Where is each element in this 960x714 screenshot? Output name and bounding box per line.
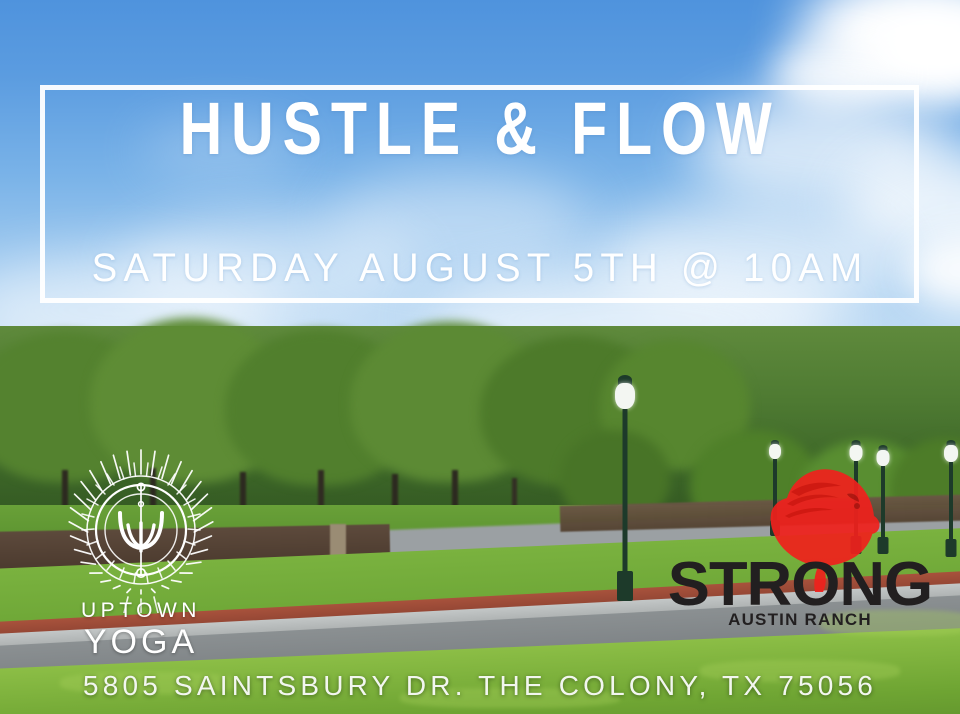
strong-wordmark: STRONG <box>637 554 960 616</box>
strong-austin-ranch-logo: STRONG AUSTIN RANCH <box>640 462 960 622</box>
uptown-yoga-logo: UPTOWN YOGA <box>36 447 246 652</box>
venue-address: 5805 SAINTSBURY DR. THE COLONY, TX 75056 <box>0 670 960 702</box>
event-headline: HUSTLE & FLOW <box>96 92 864 166</box>
lamppost <box>610 375 640 600</box>
event-subheadline: SATURDAY AUGUST 5TH @ 10AM <box>19 248 941 288</box>
event-flyer: HUSTLE & FLOW SATURDAY AUGUST 5TH @ 10AM <box>0 0 960 714</box>
sunburst-lotus-mark <box>58 447 224 613</box>
uptown-yoga-line2: YOGA <box>36 623 246 662</box>
uptown-yoga-line1: UPTOWN <box>36 599 246 623</box>
strong-tagline: AUSTIN RANCH <box>640 610 960 630</box>
